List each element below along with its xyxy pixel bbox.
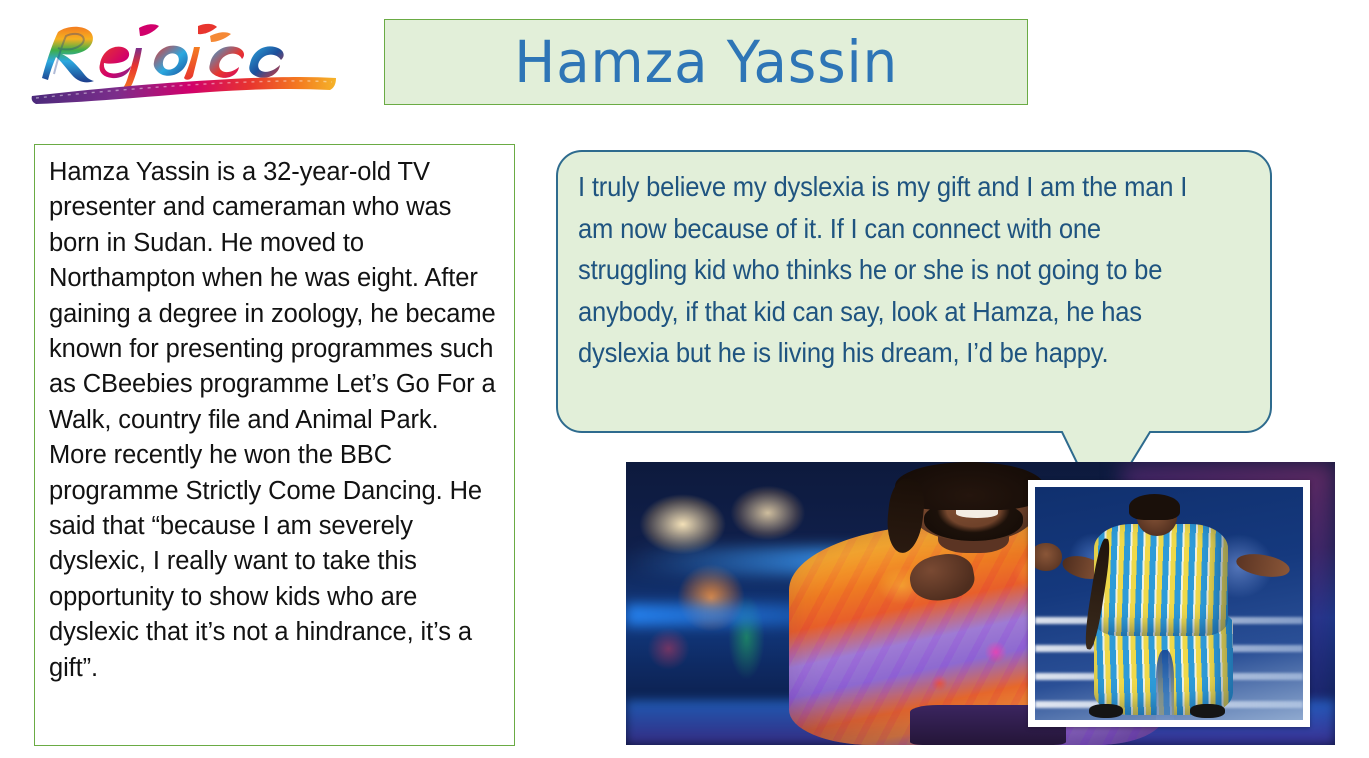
logo-letter-e (100, 47, 132, 78)
logo-underline (32, 77, 336, 104)
inset-shirt (1094, 524, 1228, 636)
biography-box: Hamza Yassin is a 32-year-old TV present… (34, 144, 515, 746)
quote-text: I truly believe my dyslexia is my gift a… (578, 166, 1199, 374)
logo-letter-o (154, 46, 188, 76)
inset-leg-gap (1156, 650, 1175, 720)
performer-smile (956, 509, 999, 518)
logo-letter-c (209, 46, 244, 78)
inset-shoe-right (1190, 704, 1225, 718)
inset-shoe-left (1089, 704, 1124, 718)
inset-hair (1129, 494, 1180, 520)
page-title-box: Hamza Yassin (384, 19, 1028, 105)
hamza-dancing-inset-photo (1028, 480, 1310, 727)
biography-text: Hamza Yassin is a 32-year-old TV present… (49, 155, 500, 686)
page-title: Hamza Yassin (514, 33, 898, 91)
logo-letter-e2 (249, 46, 283, 77)
rejoice-logo (14, 12, 354, 107)
inset-photo-image (1035, 487, 1303, 720)
inset-side-hand (1035, 543, 1062, 571)
